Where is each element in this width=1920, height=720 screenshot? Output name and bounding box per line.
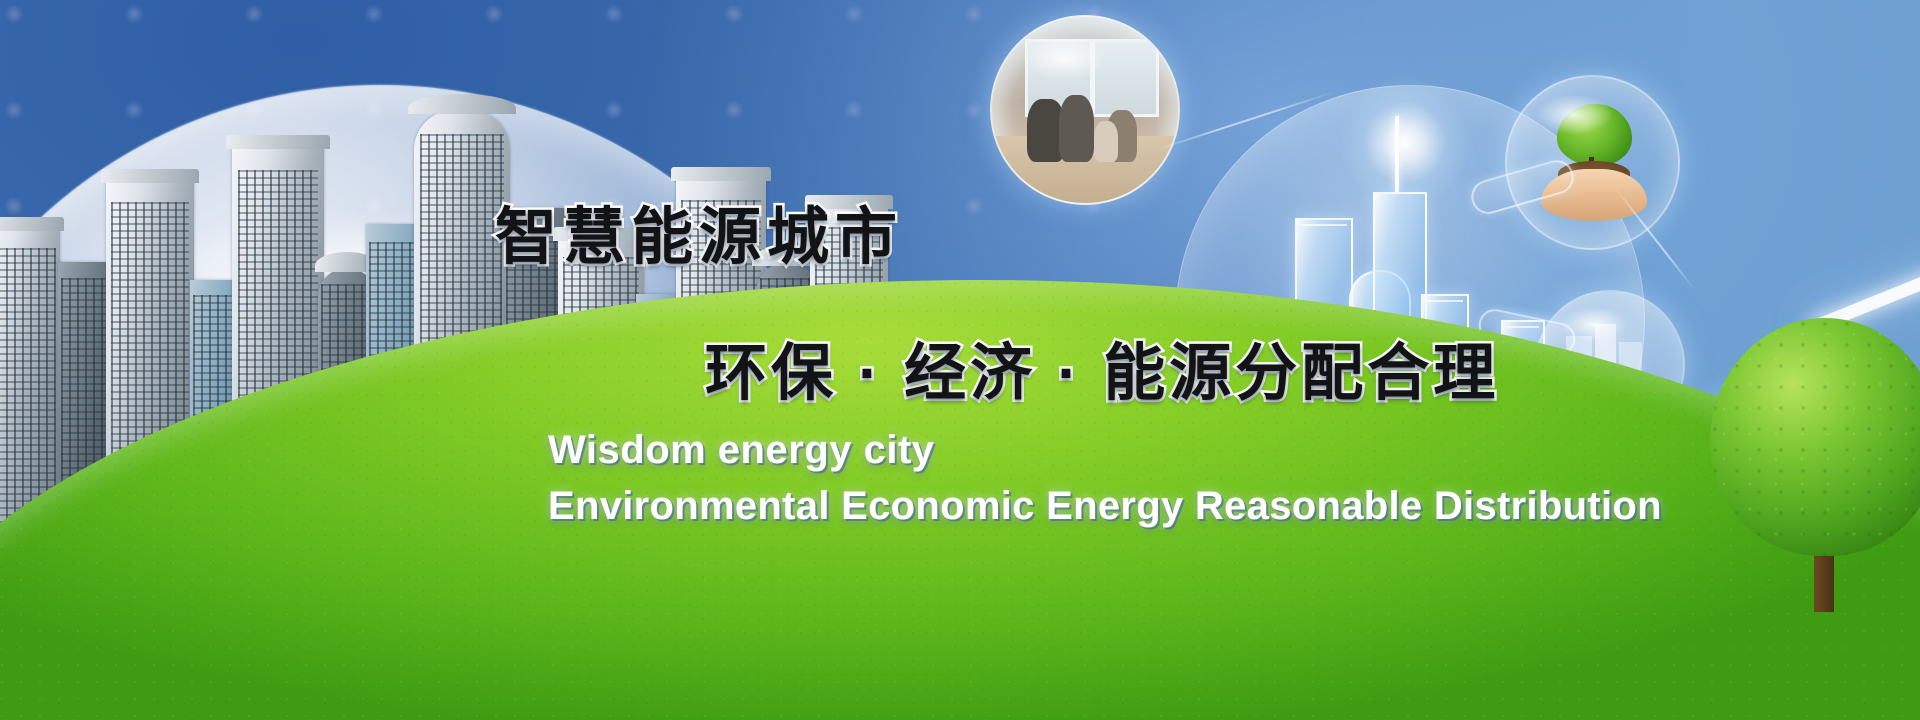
banner-copy: 智慧能源城市 环保 · 经济 · 能源分配合理 Wisdom energy ci…: [0, 0, 1920, 720]
subtitle-cn: 环保 · 经济 · 能源分配合理: [705, 322, 1499, 412]
headline-en: Wisdom energy city: [548, 428, 935, 473]
page-title: 智慧能源城市: [495, 186, 903, 276]
energy-city-banner: 智慧能源城市 环保 · 经济 · 能源分配合理 Wisdom energy ci…: [0, 0, 1920, 720]
subtitle-en: Environmental Economic Energy Reasonable…: [548, 484, 1662, 529]
